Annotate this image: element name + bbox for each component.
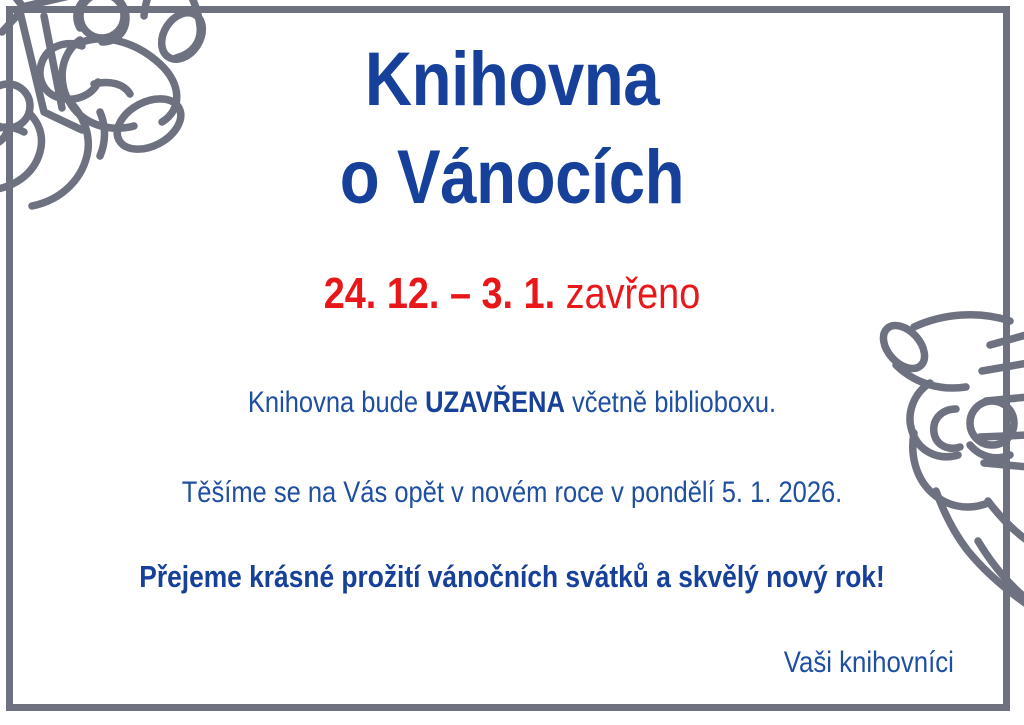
body-line-reopening: Těšíme se na Vás opět v novém roce v pon… [77, 478, 947, 508]
body-line-closed-notice: Knihovna bude UZAVŘENA včetně biblioboxu… [77, 388, 947, 418]
body-line-1-prefix: Knihovna bude [248, 386, 425, 419]
body-line-1-emphasis: UZAVŘENA [425, 386, 565, 419]
poster-title-line-2: o Vánocích [72, 140, 953, 216]
poster-content: Knihovna o Vánocích 24. 12. – 3. 1. zavř… [0, 0, 1024, 725]
poster-canvas: Knihovna o Vánocích 24. 12. – 3. 1. zavř… [0, 0, 1024, 725]
closure-dateline: 24. 12. – 3. 1. zavřeno [72, 272, 953, 316]
poster-title-line-1: Knihovna [72, 42, 953, 118]
closure-date-range: 24. 12. – 3. 1. [324, 269, 555, 318]
holiday-wish-line: Přejeme krásné prožití vánočních svátků … [77, 561, 947, 592]
body-line-1-suffix: včetně biblioboxu. [565, 386, 776, 419]
closure-status-word: zavřeno [566, 269, 701, 318]
signature-line: Vaši knihovníci [784, 648, 954, 678]
